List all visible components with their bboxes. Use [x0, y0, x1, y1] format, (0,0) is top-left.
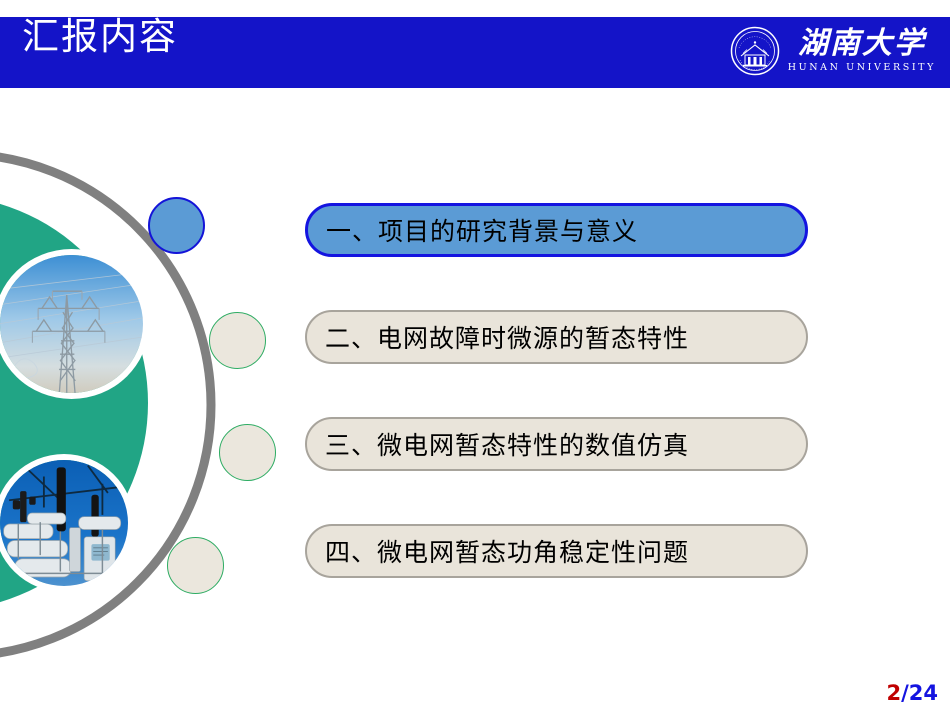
university-logo: 湖南大学 HUNAN UNIVERSITY [730, 18, 936, 84]
agenda-item-4-label: 四、微电网暂态功角稳定性问题 [307, 533, 689, 569]
page-number-total: /24 [901, 681, 938, 705]
transmission-tower-image [0, 255, 143, 398]
substation-equipment-photo [0, 454, 134, 592]
logo-chinese-name: 湖南大学 [798, 29, 926, 59]
page-title: 汇报内容 [22, 18, 178, 55]
agenda-list: 一、项目的研究背景与意义 二、电网故障时微源的暂态特性 三、微电网暂态特性的数值… [305, 203, 808, 578]
agenda-item-2-label: 二、电网故障时微源的暂态特性 [307, 319, 689, 355]
bullet-4[interactable] [167, 537, 224, 594]
bullet-3[interactable] [219, 424, 276, 481]
slide-canvas: 汇报内容 湖南大学 HUNAN UNIVERSITY [0, 0, 950, 713]
agenda-item-2[interactable]: 二、电网故障时微源的暂态特性 [305, 310, 808, 364]
agenda-item-3[interactable]: 三、微电网暂态特性的数值仿真 [305, 417, 808, 471]
logo-text-block: 湖南大学 HUNAN UNIVERSITY [788, 29, 936, 73]
agenda-item-1-label: 一、项目的研究背景与意义 [308, 212, 638, 248]
logo-english-name: HUNAN UNIVERSITY [788, 63, 936, 73]
transmission-tower-photo [0, 249, 149, 399]
bullet-2[interactable] [209, 312, 266, 369]
hunan-university-seal-icon [730, 26, 780, 76]
substation-image [0, 460, 128, 588]
agenda-item-3-label: 三、微电网暂态特性的数值仿真 [307, 426, 689, 462]
bullet-1[interactable] [148, 197, 205, 254]
page-number-current: 2 [886, 681, 901, 705]
agenda-item-1[interactable]: 一、项目的研究背景与意义 [305, 203, 808, 257]
agenda-item-4[interactable]: 四、微电网暂态功角稳定性问题 [305, 524, 808, 578]
page-number: 2/24 [886, 681, 938, 705]
